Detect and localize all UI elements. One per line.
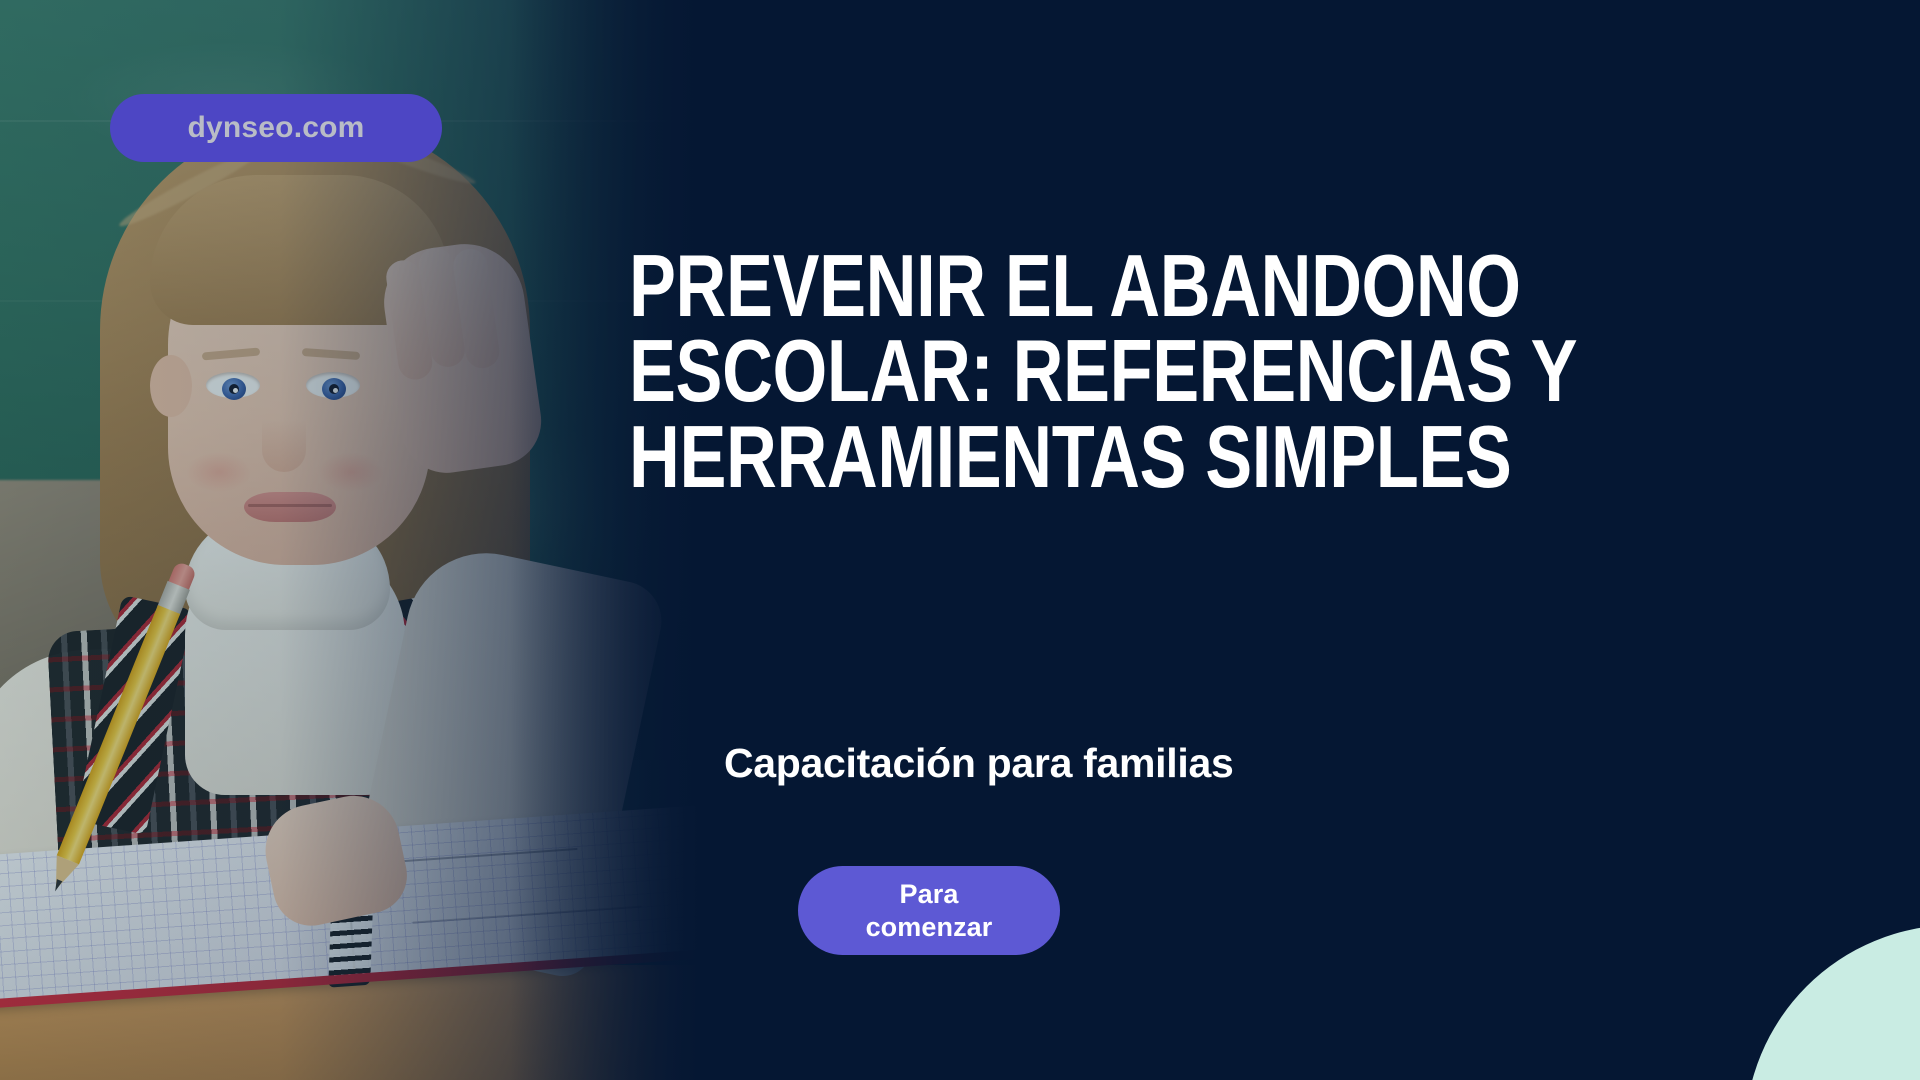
site-url-label: dynseo.com: [187, 111, 364, 145]
headline-line-2: ESCOLAR: REFERENCIAS Y: [629, 328, 1477, 413]
hero-photo: [0, 0, 700, 1080]
site-url-badge[interactable]: dynseo.com: [110, 94, 442, 162]
photo-illustration: [0, 0, 700, 1080]
headline-line-1: PREVENIR EL ABANDONO: [629, 243, 1477, 328]
start-button[interactable]: Para comenzar: [798, 866, 1060, 955]
promo-banner: dynseo.com PREVENIR EL ABANDONO ESCOLAR:…: [0, 0, 1920, 1080]
photo-edge-fade: [510, 0, 700, 1080]
subtitle: Capacitación para familias: [724, 740, 1233, 787]
page-title: PREVENIR EL ABANDONO ESCOLAR: REFERENCIA…: [629, 243, 1477, 499]
start-button-label-line-1: Para: [900, 878, 959, 911]
start-button-label-line-2: comenzar: [866, 911, 993, 944]
headline-line-3: HERRAMIENTAS SIMPLES: [629, 414, 1477, 499]
